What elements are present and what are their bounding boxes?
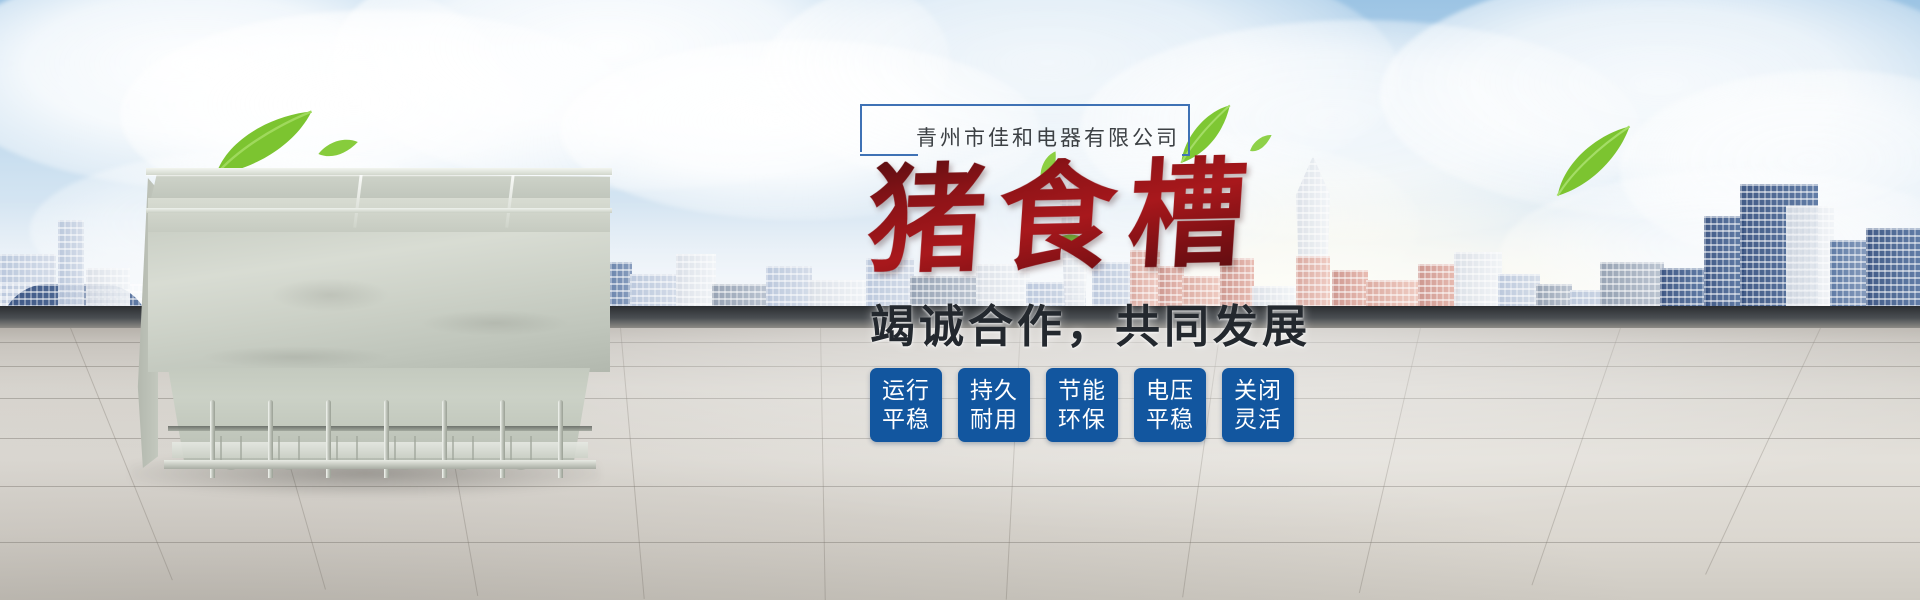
badge-line-1: 电压 bbox=[1146, 376, 1194, 405]
badge-line-2: 平稳 bbox=[882, 405, 930, 434]
feature-badge: 节能 环保 bbox=[1046, 368, 1118, 442]
banner-text-block: 青州市佳和电器有限公司 猪食槽 竭诚合作，共同发展 运行 平稳 持久 耐用 节能… bbox=[700, 100, 1260, 560]
feature-badge: 运行 平稳 bbox=[870, 368, 942, 442]
badge-line-2: 环保 bbox=[1058, 405, 1106, 434]
feature-badge: 关闭 灵活 bbox=[1222, 368, 1294, 442]
feature-badge-list: 运行 平稳 持久 耐用 节能 环保 电压 平稳 关闭 灵活 bbox=[870, 368, 1294, 442]
product-image-pig-feeder-trough bbox=[60, 150, 620, 490]
badge-line-1: 持久 bbox=[970, 376, 1018, 405]
badge-line-1: 运行 bbox=[882, 376, 930, 405]
trough-back-rail bbox=[168, 426, 592, 431]
stainless-trough bbox=[60, 150, 620, 490]
trough-inner-wall bbox=[148, 198, 610, 236]
trough-top-rim bbox=[146, 168, 612, 175]
badge-line-1: 关闭 bbox=[1234, 376, 1282, 405]
banner-subtitle: 竭诚合作，共同发展 bbox=[870, 290, 1311, 355]
frame-line-left bbox=[860, 104, 862, 152]
product-banner: 青州市佳和电器有限公司 猪食槽 竭诚合作，共同发展 运行 平稳 持久 耐用 节能… bbox=[0, 0, 1920, 600]
badge-line-2: 灵活 bbox=[1234, 405, 1282, 434]
feature-badge: 电压 平稳 bbox=[1134, 368, 1206, 442]
frame-line-top bbox=[860, 104, 1190, 106]
badge-line-2: 平稳 bbox=[1146, 405, 1194, 434]
badge-line-2: 耐用 bbox=[970, 405, 1018, 434]
page-title: 猪食槽 bbox=[864, 154, 1262, 280]
badge-line-1: 节能 bbox=[1058, 376, 1106, 405]
trough-bottom-rim bbox=[164, 460, 596, 469]
trough-mid-rim bbox=[146, 208, 612, 213]
feature-badge: 持久 耐用 bbox=[958, 368, 1030, 442]
